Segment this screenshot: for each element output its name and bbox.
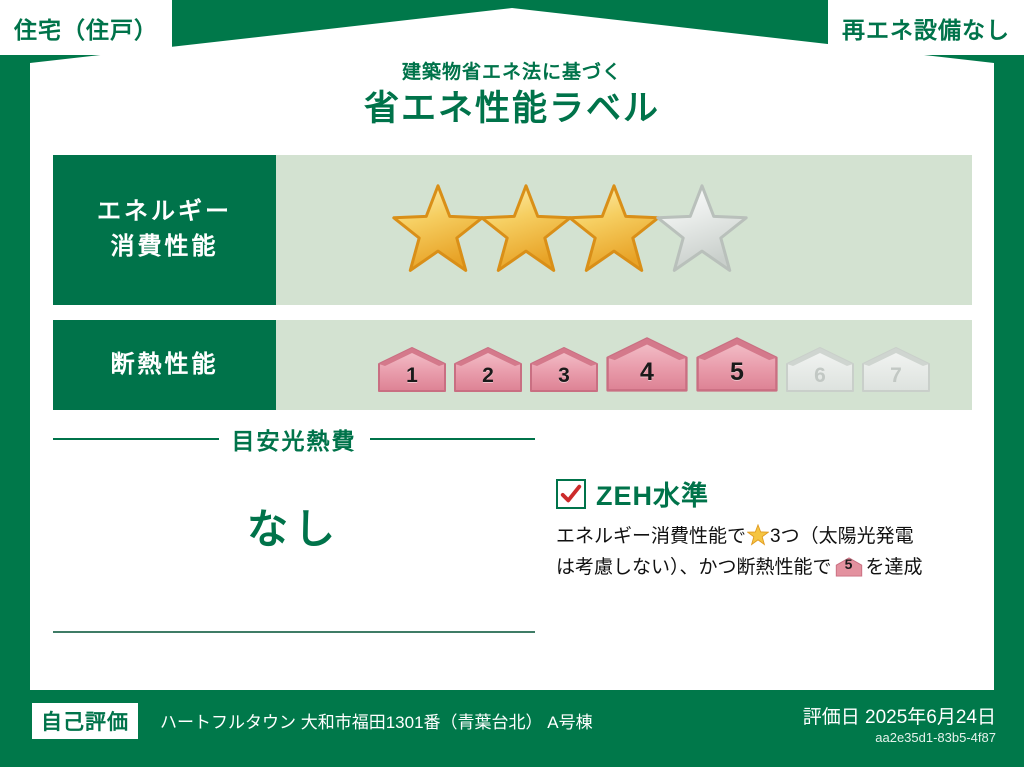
evaluation-date: 評価日 2025年6月24日: [803, 702, 996, 729]
utility-cost-value: なし: [53, 495, 535, 555]
insulation-grade-number: 3: [528, 364, 600, 388]
insulation-grade-number: 7: [860, 364, 932, 388]
zeh-title: ZEH水準: [596, 474, 709, 513]
star-icon: [747, 524, 769, 546]
insulation-grade-number: 4: [604, 358, 690, 387]
divider-left: [53, 438, 219, 440]
star-rating: [276, 155, 972, 305]
insulation-grade-inline-icon: 5: [835, 557, 863, 577]
insulation-grade-2: 2: [452, 346, 524, 394]
row-energy-label-line1: エネルギー: [97, 195, 232, 230]
page-title: 建築物省エネ法に基づく 省エネ性能ラベル: [30, 62, 994, 131]
star-empty-icon: [655, 183, 749, 277]
insulation-grade-scale: 1234567: [276, 320, 972, 410]
row-insulation-performance: 断熱性能 1234567: [53, 320, 972, 410]
utility-cost-heading-label: 目安光熱費: [219, 422, 370, 456]
badge-renewable-energy: 再エネ設備なし: [828, 0, 1024, 55]
star-filled-icon: [479, 183, 573, 277]
zeh-section: ZEH水準 エネルギー消費性能で 3つ（太陽光発電 は考慮しない）、かつ断熱性能…: [556, 474, 976, 584]
badge-building-type-label: 住宅（住戸）: [14, 11, 158, 45]
footer: 自己評価 ハートフルタウン 大和市福田1301番（青葉台北） A号棟 評価日 2…: [0, 690, 1024, 767]
zeh-description: エネルギー消費性能で 3つ（太陽光発電 は考慮しない）、かつ断熱性能で 5 を達…: [556, 522, 976, 584]
zeh-desc-part1: エネルギー消費性能で: [556, 526, 746, 547]
row-energy-label: エネルギー 消費性能: [53, 155, 276, 305]
title-main: 省エネ性能ラベル: [30, 87, 994, 131]
badge-renewable-energy-label: 再エネ設備なし: [842, 11, 1010, 45]
row-energy-performance: エネルギー 消費性能: [53, 155, 972, 305]
insulation-grade-number: 6: [784, 364, 856, 388]
evaluation-id: aa2e35d1-83b5-4f87: [875, 730, 996, 745]
insulation-grade-number: 5: [694, 358, 780, 387]
title-subtitle: 建築物省エネ法に基づく: [30, 62, 994, 85]
insulation-grade-4: 4: [604, 336, 690, 394]
zeh-desc-part2: は考慮しない）、かつ断熱性能で: [556, 557, 832, 578]
insulation-grade-6: 6: [784, 346, 856, 394]
property-name: ハートフルタウン 大和市福田1301番（青葉台北） A号棟: [160, 708, 593, 733]
insulation-grade-1: 1: [376, 346, 448, 394]
row-energy-label-line2: 消費性能: [111, 230, 219, 265]
zeh-desc-star-count: 3つ（太陽光発電: [770, 526, 914, 547]
row-insulation-label: 断熱性能: [53, 320, 276, 410]
utility-cost-bottom-rule: [53, 631, 535, 633]
checkbox-checked-icon[interactable]: [556, 479, 586, 509]
insulation-grade-3: 3: [528, 346, 600, 394]
row-insulation-label-line1: 断熱性能: [111, 348, 219, 383]
utility-cost-heading: 目安光熱費: [53, 422, 535, 456]
divider-right: [370, 438, 536, 440]
self-evaluation-badge: 自己評価: [32, 703, 138, 739]
zeh-header: ZEH水準: [556, 474, 976, 513]
insulation-grade-7: 7: [860, 346, 932, 394]
insulation-grade-inline-number: 5: [835, 557, 863, 577]
energy-performance-label: 住宅（住戸） 再エネ設備なし 建築物省エネ法に基づく 省エネ性能ラベル エネルギ…: [0, 0, 1024, 767]
star-filled-icon: [391, 183, 485, 277]
insulation-grade-number: 1: [376, 364, 448, 388]
insulation-grade-5: 5: [694, 336, 780, 394]
badge-building-type: 住宅（住戸）: [0, 0, 172, 55]
zeh-desc-part3: を達成: [866, 557, 923, 578]
insulation-grade-number: 2: [452, 364, 524, 388]
insulation-house-list: 1234567: [376, 336, 936, 394]
star-filled-icon: [567, 183, 661, 277]
